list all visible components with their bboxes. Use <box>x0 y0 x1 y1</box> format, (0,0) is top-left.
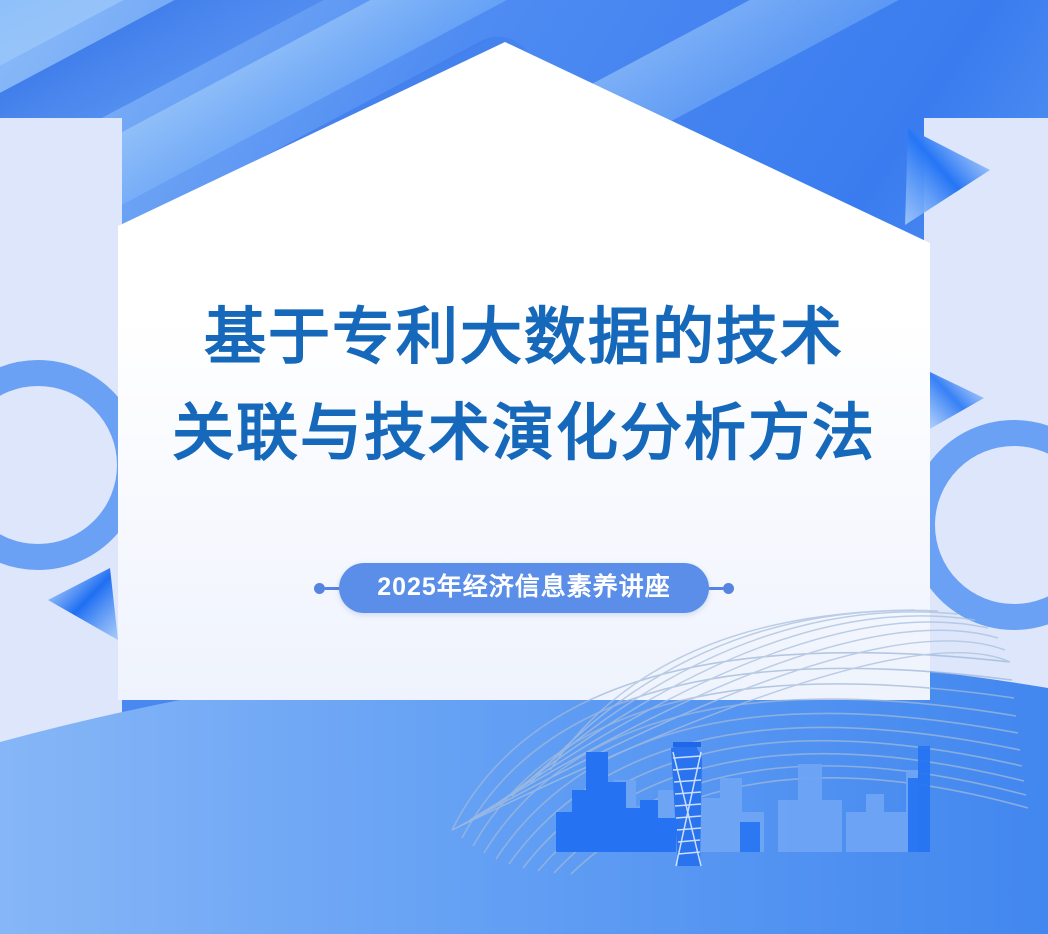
left-lavender-panel <box>0 118 122 758</box>
background-artwork <box>0 0 1048 934</box>
poster-canvas: 基于专利大数据的技术 关联与技术演化分析方法 2025年经济信息素养讲座 <box>0 0 1048 934</box>
